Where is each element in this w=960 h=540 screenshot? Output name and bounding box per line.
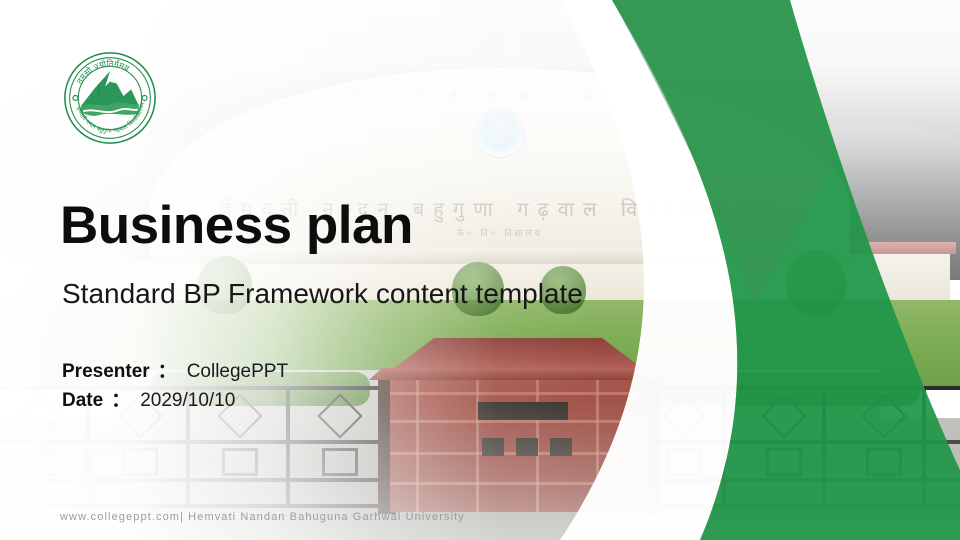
presenter-value: CollegePPT	[181, 361, 288, 383]
presenter-colon: ：	[150, 356, 181, 383]
date-row: Date ： 2029/10/10	[62, 385, 288, 414]
university-logo-icon: तमसो ज्योतिर्गमय हेमवती नन्दन बहुगुणा गढ…	[62, 50, 158, 146]
slide-meta: Presenter ： CollegePPT Date ： 2029/10/10	[62, 356, 288, 414]
date-value: 2029/10/10	[134, 390, 235, 412]
date-colon: ：	[103, 385, 134, 412]
slide-title: Business plan	[60, 199, 413, 252]
presenter-label: Presenter	[62, 361, 150, 383]
slide-footer: www.collegeppt.com| Hemvati Nandan Bahug…	[60, 511, 465, 523]
presentation-slide: श्री गढ़वाल देव हेमवती नन्दन बहुगुणा गढ़…	[0, 0, 960, 540]
slide-subtitle: Standard BP Framework content template	[62, 280, 583, 308]
presenter-row: Presenter ： CollegePPT	[62, 356, 288, 385]
date-label: Date	[62, 390, 103, 412]
